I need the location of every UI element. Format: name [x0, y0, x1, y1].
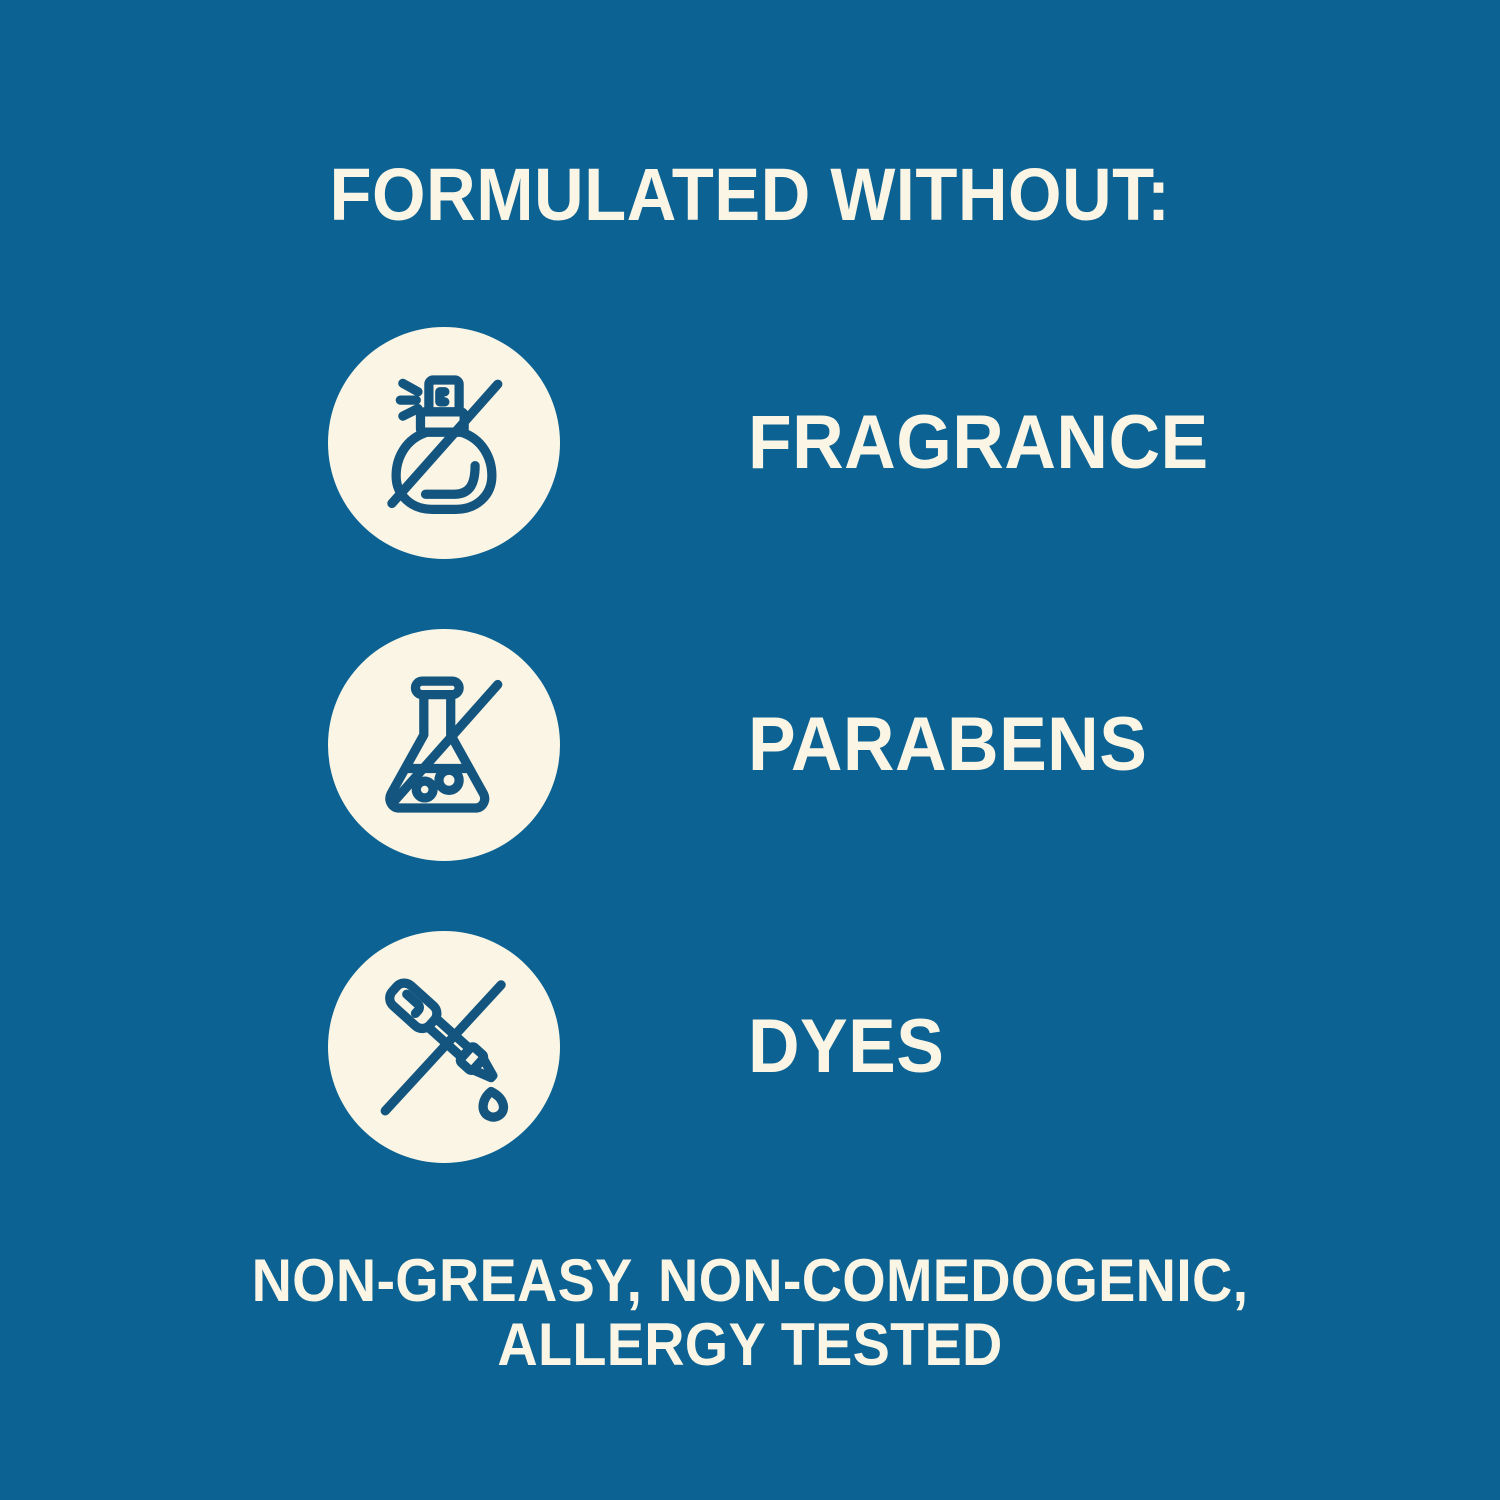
benefit-row: FRAGRANCE [0, 327, 1500, 559]
page-title: FORMULATED WITHOUT: [53, 158, 1448, 232]
benefit-row: DYES [0, 931, 1500, 1163]
footer-line-1: NON-GREASY, NON-COMEDOGENIC, [53, 1249, 1448, 1313]
formulated-without-infographic: FORMULATED WITHOUT: [0, 0, 1500, 1500]
footer-claims: NON-GREASY, NON-COMEDOGENIC, ALLERGY TES… [53, 1249, 1448, 1377]
benefit-row: PARABENS [0, 629, 1500, 861]
no-fragrance-bottle-icon [360, 359, 528, 527]
no-dropper-icon-badge [328, 931, 560, 1163]
no-dropper-icon [360, 963, 528, 1131]
no-flask-icon [360, 661, 528, 829]
no-flask-icon-badge [328, 629, 560, 861]
benefit-label-parabens: PARABENS [748, 707, 1147, 783]
footer-line-2: ALLERGY TESTED [53, 1313, 1448, 1377]
no-fragrance-bottle-icon-badge [328, 327, 560, 559]
benefit-label-fragrance: FRAGRANCE [748, 405, 1209, 481]
benefit-label-dyes: DYES [748, 1009, 944, 1085]
